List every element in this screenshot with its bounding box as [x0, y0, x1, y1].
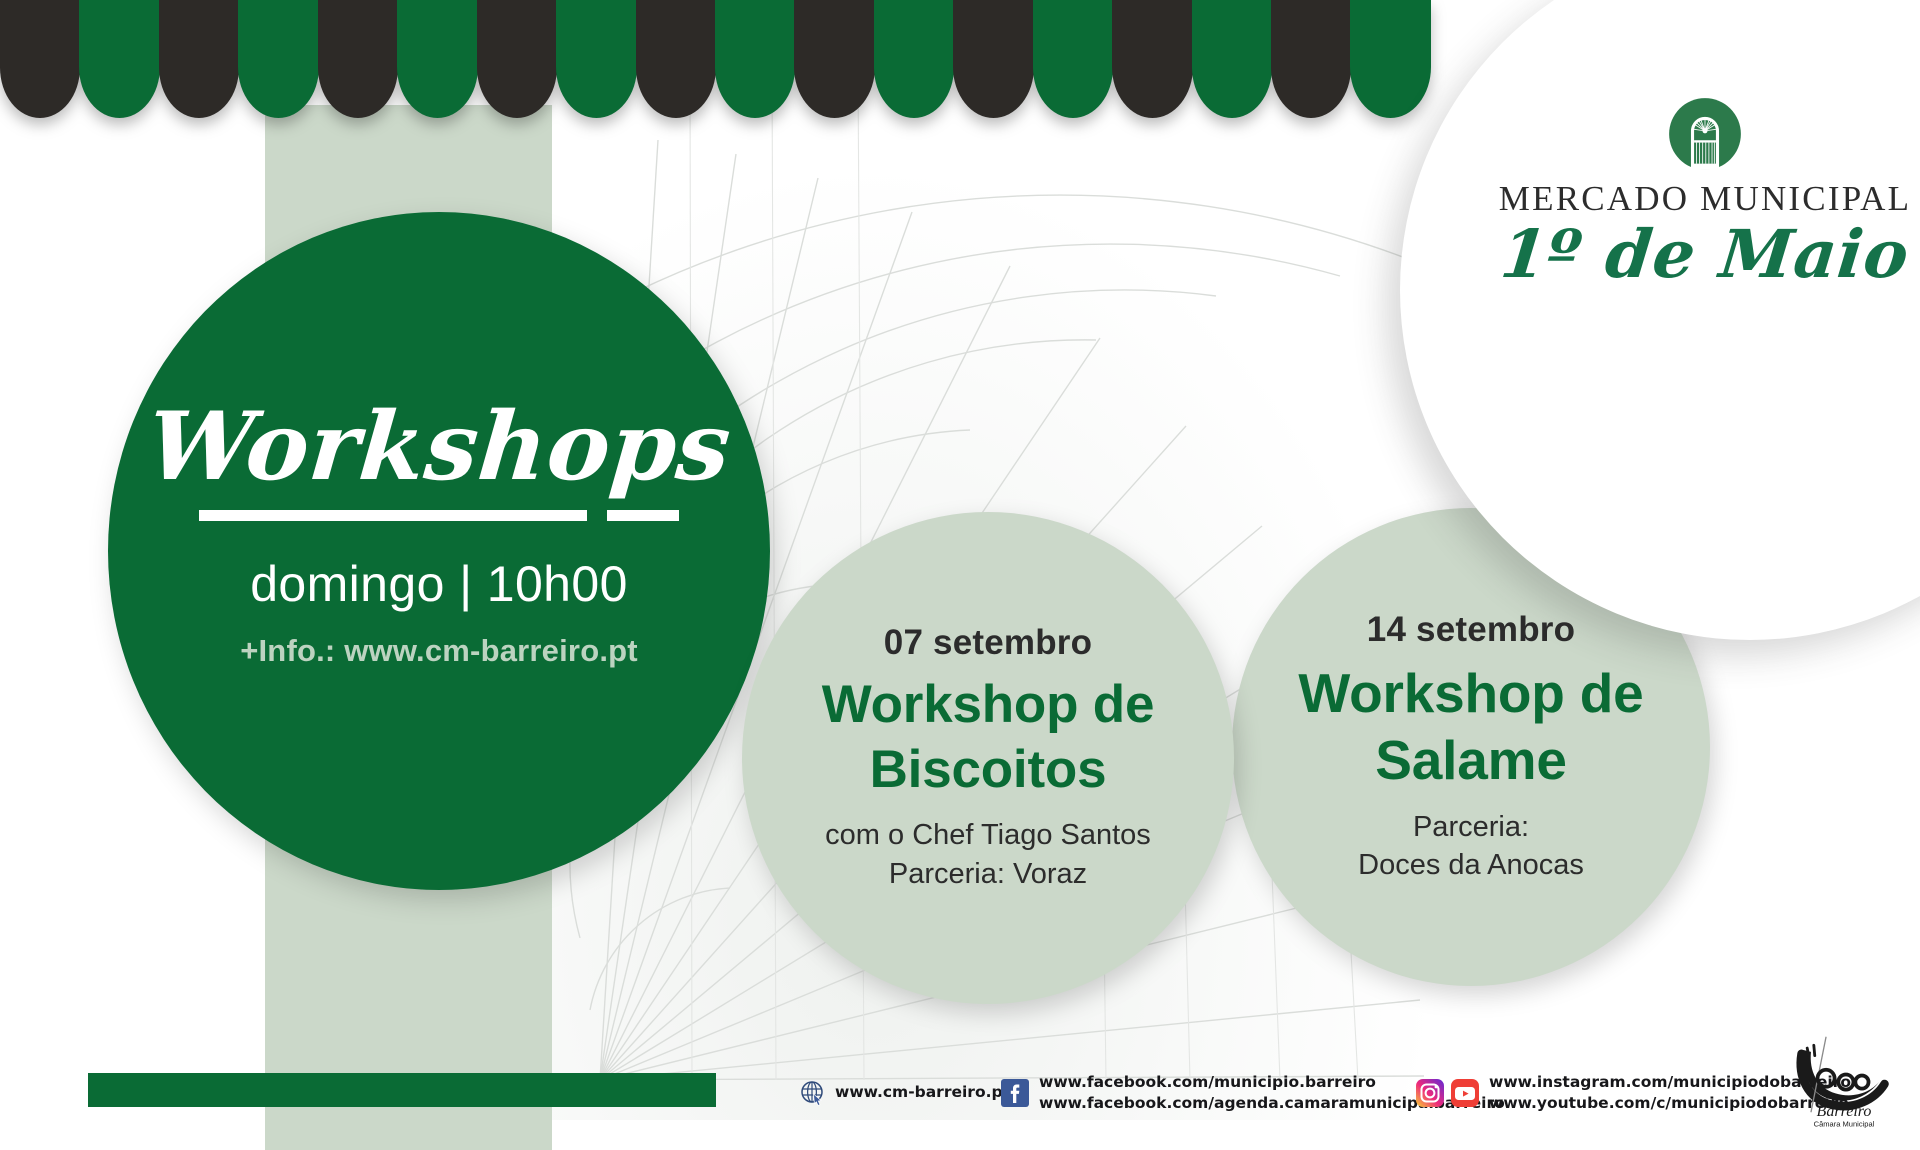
awning-scallop: [397, 0, 477, 118]
event-subtitle-line1: Parceria:: [1413, 811, 1529, 843]
event-subtitle-line1: com o Chef Tiago Santos: [825, 819, 1151, 851]
event-title-line1: Workshop de: [1298, 662, 1643, 724]
event-circle-biscoitos[interactable]: 07 setembro Workshop de Biscoitos com o …: [742, 512, 1234, 1004]
event-date: 14 setembro: [1367, 610, 1575, 650]
divider-rule-long: [199, 510, 587, 521]
divider-rule-short: [607, 510, 679, 521]
footer-website-group[interactable]: www.cm-barreiro.pt: [800, 1080, 1010, 1106]
awning-scallop: [1112, 0, 1192, 118]
awning-scallop: [636, 0, 716, 118]
event-title: Workshop de Biscoitos: [822, 673, 1155, 802]
footer-website-text: www.cm-barreiro.pt: [835, 1082, 1010, 1103]
instagram-icon: [1415, 1078, 1445, 1108]
awning-scallop: [556, 0, 636, 118]
youtube-icon: [1450, 1078, 1480, 1108]
event-title-line2: Biscoitos: [870, 740, 1107, 799]
footer-social-group[interactable]: www.instagram.com/municipiodobarreiro ww…: [1415, 1072, 1851, 1115]
page-title: Workshops: [144, 401, 734, 493]
awning-scallop: [318, 0, 398, 118]
awning-scallop: [0, 0, 80, 118]
footer: www.cm-barreiro.pt www.facebook.com/muni…: [0, 1046, 1920, 1150]
event-date: 07 setembro: [884, 623, 1092, 663]
city-logo-subtitle: Câmara Municipal: [1814, 1119, 1875, 1128]
awning-scallop: [794, 0, 874, 118]
awning-canopy: [0, 0, 1430, 120]
brand-line-1-de-maio: 1º de Maio: [1466, 218, 1920, 292]
workshops-hero-circle: Workshops domingo | 10h00 +Info.: www.cm…: [108, 212, 770, 890]
globe-cursor-icon: [800, 1080, 826, 1106]
awning-scallop: [477, 0, 557, 118]
event-subtitle-line2: Doces da Anocas: [1358, 849, 1584, 881]
awning-scallop: [1271, 0, 1351, 118]
event-title-line1: Workshop de: [822, 675, 1155, 734]
event-subtitle: com o Chef Tiago Santos Parceria: Voraz: [825, 816, 1151, 893]
awning-scallop: [715, 0, 795, 118]
title-divider: [199, 510, 679, 521]
event-title-line2: Salame: [1375, 729, 1566, 791]
awning-scallop: [1350, 0, 1430, 118]
poster-canvas: MERCADO MUNICIPAL 1º de Maio Workshops d…: [0, 0, 1920, 1150]
event-subtitle: Parceria: Doces da Anocas: [1358, 808, 1584, 885]
facebook-icon: [1000, 1078, 1030, 1108]
awning-scallop: [159, 0, 239, 118]
awning-scallop: [953, 0, 1033, 118]
more-info-text: +Info.: www.cm-barreiro.pt: [240, 633, 638, 669]
market-arch-icon: [1666, 95, 1744, 173]
awning-scallop: [1033, 0, 1113, 118]
brand-line-mercado-municipal: MERCADO MUNICIPAL: [1470, 181, 1920, 216]
schedule-text: domingo | 10h00: [250, 555, 628, 613]
city-logo-name: Barreiro: [1817, 1103, 1872, 1120]
awning-scallop: [874, 0, 954, 118]
event-title: Workshop de Salame: [1298, 660, 1643, 794]
event-subtitle-line2: Parceria: Voraz: [889, 858, 1087, 890]
footer-website-url[interactable]: www.cm-barreiro.pt: [835, 1082, 1010, 1103]
brand-logo: MERCADO MUNICIPAL 1º de Maio: [1470, 95, 1920, 292]
awning-scallop: [1192, 0, 1272, 118]
awning-scallop: [79, 0, 159, 118]
barreiro-swoosh-icon: Barreiro Câmara Municipal: [1792, 1033, 1896, 1133]
awning-scallop: [238, 0, 318, 118]
